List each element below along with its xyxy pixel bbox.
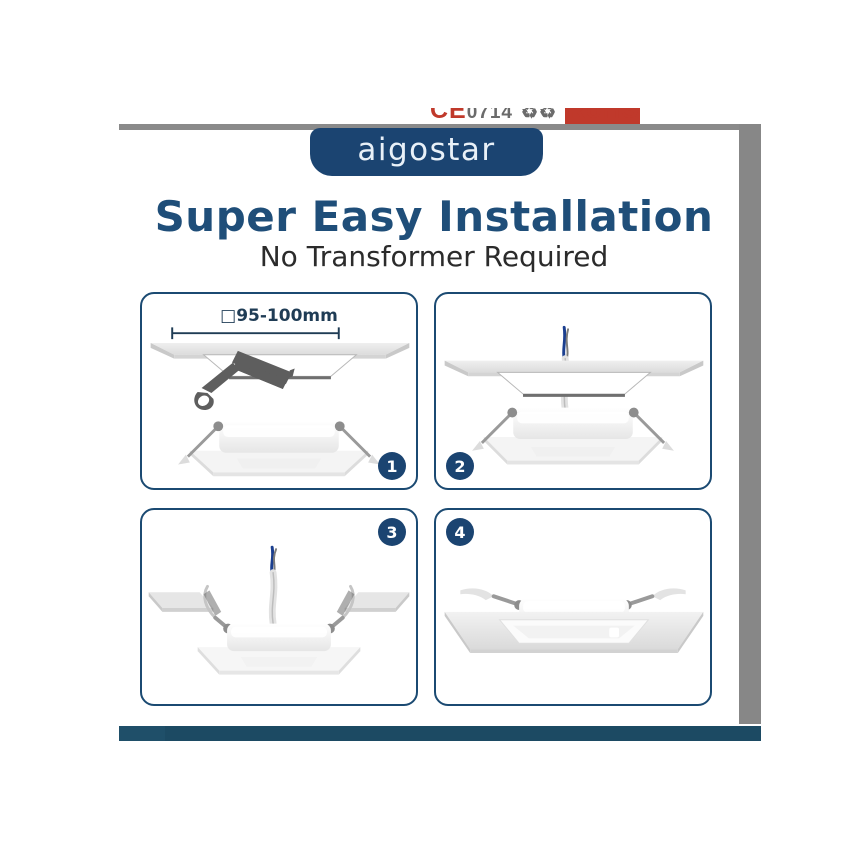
infographic-canvas: CE0714 ♻♻ RoHS aigostar Super Easy Insta… <box>0 0 868 868</box>
cutout-dimension-label: □95-100mm <box>142 306 416 326</box>
step-4-illustration <box>436 510 710 704</box>
step-badge-1: 1 <box>378 452 406 480</box>
bottom-accent-bar <box>119 726 761 741</box>
step-badge-3: 3 <box>378 518 406 546</box>
supply-wire <box>272 547 276 623</box>
step-2-illustration <box>436 294 710 488</box>
certification-marks: CE0714 ♻♻ RoHS <box>430 108 640 126</box>
step-panel-2: 2 <box>434 292 712 490</box>
steps-grid: □95-100mm <box>140 292 724 712</box>
step-panel-3: 3 <box>140 508 418 706</box>
page-title: Super Easy Installation <box>0 192 868 241</box>
step-panel-1: □95-100mm <box>140 292 418 490</box>
led-fixture <box>472 408 674 465</box>
brand-logo: aigostar <box>310 128 543 176</box>
certification-text: CE0714 ♻♻ RoHS <box>430 108 640 125</box>
ceiling-slab-flush <box>445 612 704 653</box>
spring-clip-left-seated <box>460 588 524 610</box>
step-badge-2: 2 <box>446 452 474 480</box>
step-panel-4: 4 <box>434 508 712 706</box>
page-subtitle: No Transformer Required <box>0 240 868 273</box>
brand-logo-text: aigostar <box>357 135 495 169</box>
spring-clip-right-seated <box>622 588 686 610</box>
step-badge-4: 4 <box>446 518 474 546</box>
step-3-illustration <box>142 510 416 704</box>
spring-clip-left-up <box>204 586 228 627</box>
bottom-accent-bar-cap <box>119 726 165 741</box>
ceiling-slab <box>445 361 704 397</box>
spring-clip-right-up <box>331 586 355 627</box>
led-fixture <box>178 421 380 476</box>
dimension-arrow <box>172 327 339 339</box>
led-fixture <box>198 624 361 675</box>
